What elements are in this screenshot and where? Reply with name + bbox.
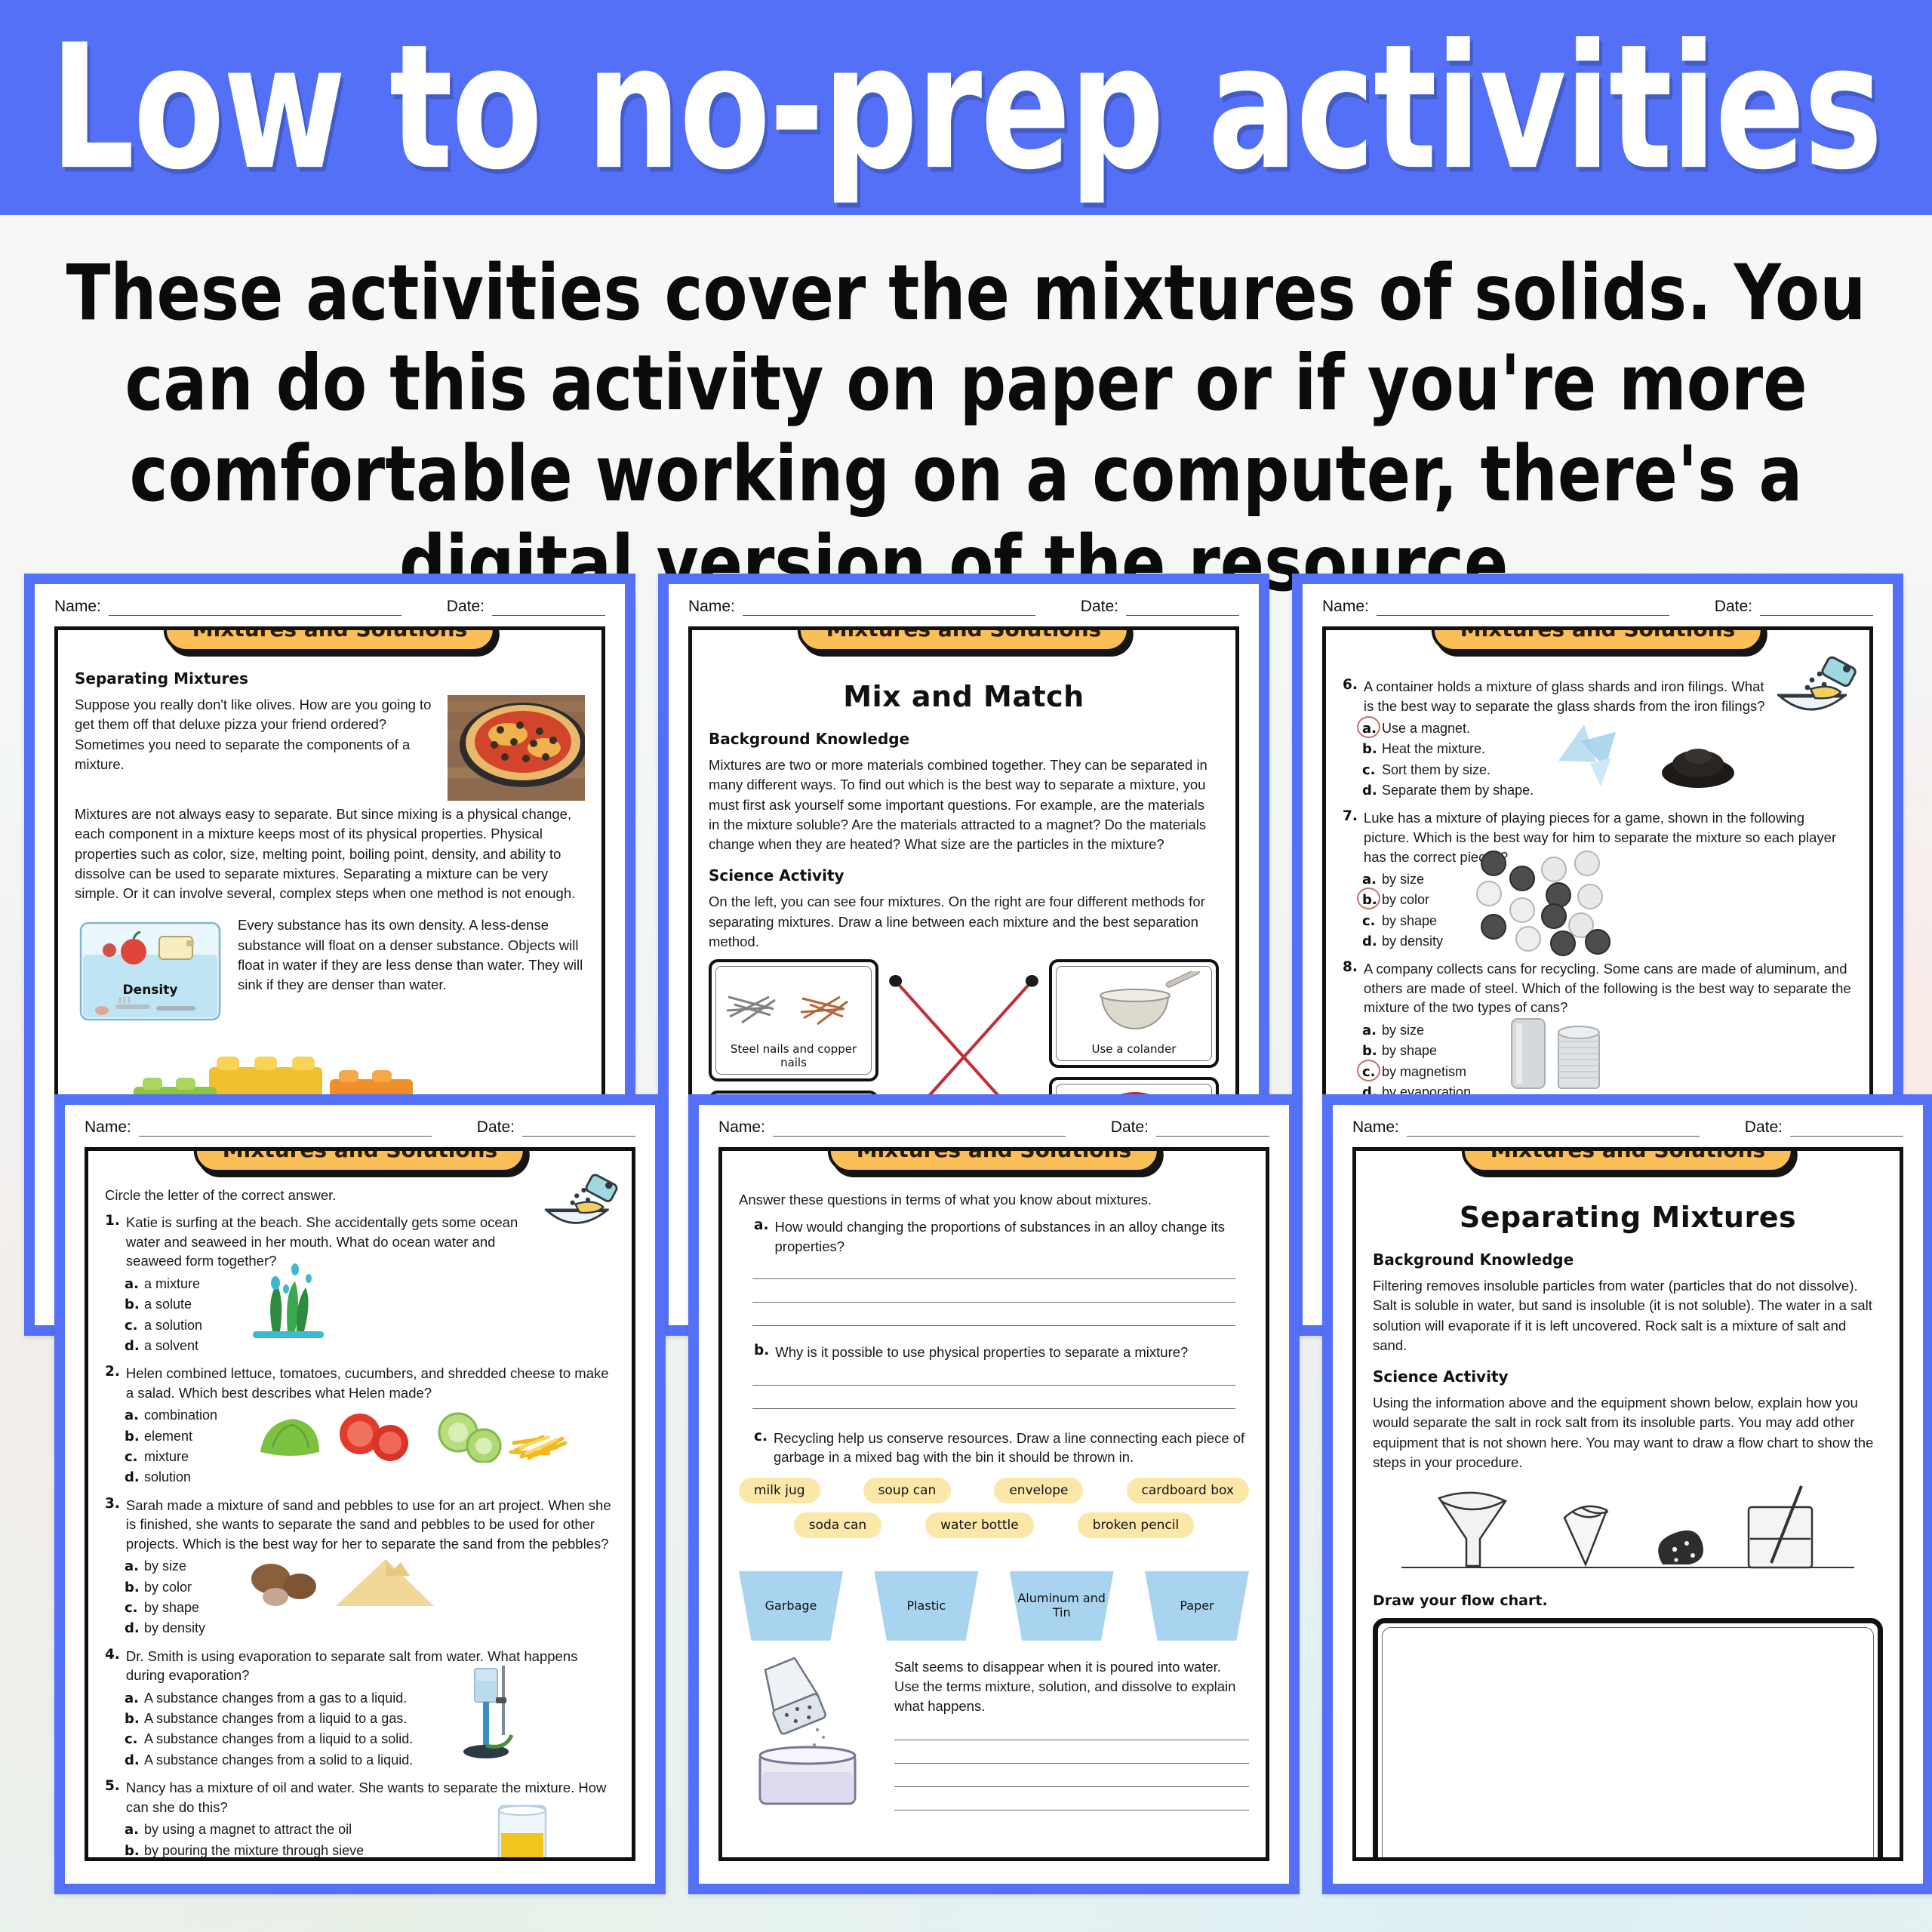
date-label: Date: xyxy=(447,598,485,616)
worksheet-title-pill: Mixtures and Solutions xyxy=(828,1147,1160,1173)
science-activity-text: Using the information above and the equi… xyxy=(1373,1393,1883,1472)
oil-and-water-beaker-illustration xyxy=(487,1800,559,1861)
date-label: Date: xyxy=(477,1118,515,1137)
sand-pebbles-illustrations xyxy=(245,1553,457,1614)
name-label: Name: xyxy=(1322,598,1369,616)
background-knowledge-heading: Background Knowledge xyxy=(709,730,1219,748)
colander-photo xyxy=(1060,971,1211,1036)
seaweed-illustration xyxy=(239,1253,337,1347)
funnel-sketch xyxy=(1439,1493,1506,1566)
name-date-row: Name: Date: xyxy=(1322,598,1873,616)
glass-shards-illustration xyxy=(1551,714,1641,797)
option-list: a.by size b.by color c.by shape d.by den… xyxy=(1362,869,1853,952)
svg-text:Density: Density xyxy=(123,983,178,998)
name-label: Name: xyxy=(688,598,735,616)
recycling-bin-row: Garbage Plastic Aluminum and Tin Paper xyxy=(739,1571,1249,1641)
paragraph-2: Mixtures are not always easy to separate… xyxy=(75,804,585,903)
recycling-bin[interactable]: Aluminum and Tin xyxy=(1010,1571,1114,1641)
flow-chart-label: Draw your flow chart. xyxy=(1373,1592,1883,1609)
flow-chart-drawing-area[interactable] xyxy=(1373,1618,1883,1861)
name-input-line[interactable] xyxy=(109,615,401,616)
background-knowledge-heading: Background Knowledge xyxy=(1373,1251,1883,1269)
option-list: a.by using a magnet to attract the oil b… xyxy=(125,1820,615,1861)
worksheet-title-pill: Mixtures and Solutions xyxy=(1432,626,1764,652)
salt-prompt-text: Salt seems to disappear when it is poure… xyxy=(894,1657,1249,1717)
garbage-tag-row-1: milk jug soup can envelope cardboard box xyxy=(739,1478,1249,1503)
name-input-line[interactable] xyxy=(743,615,1035,616)
date-input-line[interactable] xyxy=(1126,615,1239,616)
date-input-line[interactable] xyxy=(492,615,605,616)
worksheet-frame: Mixtures and Solutions Circle the letter… xyxy=(85,1147,635,1861)
worksheet-title-pill: Mixtures and Solutions xyxy=(798,626,1130,652)
recycling-bin[interactable]: Garbage xyxy=(739,1571,843,1641)
worksheet-card-separating-mixtures-activity[interactable]: Name: Date: Mixtures and Solutions Separ… xyxy=(1322,1094,1932,1894)
shredded-cheese-illustration xyxy=(511,1437,565,1458)
answer-lines[interactable] xyxy=(739,1278,1249,1326)
equipment-illustrations xyxy=(1373,1480,1883,1582)
aluminum-can-photo xyxy=(1506,1016,1626,1103)
name-input-line[interactable] xyxy=(1407,1136,1700,1137)
garbage-tag[interactable]: water bottle xyxy=(925,1512,1034,1538)
density-tank-illustration: Density xyxy=(75,915,226,1032)
worksheet-card-questions-1-5[interactable]: Name: Date: Mixtures and Solutions Circl… xyxy=(54,1094,666,1894)
question-item: 8. A company collects cans for recycling… xyxy=(1343,959,1853,1017)
option-row[interactable]: d.solution xyxy=(125,1467,615,1487)
worksheet-subtitle: Separating Mixtures xyxy=(1373,1201,1883,1234)
beaker-with-stirrer-sketch xyxy=(1749,1486,1812,1567)
garbage-tag[interactable]: milk jug xyxy=(739,1478,820,1503)
pebbles-illustration xyxy=(251,1564,316,1606)
garbage-tag[interactable]: broken pencil xyxy=(1078,1512,1195,1538)
game-tokens-illustration xyxy=(1475,847,1626,964)
date-label: Date: xyxy=(1081,598,1118,616)
question-item: 2. Helen combined lettuce, tomatoes, cuc… xyxy=(105,1364,615,1402)
background-knowledge-text: Mixtures are two or more materials combi… xyxy=(709,755,1219,854)
science-activity-heading: Science Activity xyxy=(1373,1367,1883,1386)
rock-salt-sketch xyxy=(1658,1531,1703,1564)
worksheet-frame: Mixtures and Solutions Separating Mixtur… xyxy=(1352,1147,1903,1861)
date-label: Date: xyxy=(1111,1118,1149,1137)
name-date-row: Name: Date: xyxy=(718,1118,1269,1137)
date-input-line[interactable] xyxy=(522,1136,635,1137)
name-date-row: Name: Date: xyxy=(688,598,1239,616)
garbage-tag[interactable]: soup can xyxy=(863,1478,952,1503)
worksheet-frame: Mixtures and Solutions Answer these ques… xyxy=(718,1147,1269,1861)
paragraph-3: Every substance has its own density. A l… xyxy=(238,915,585,995)
name-date-row: Name: Date: xyxy=(1352,1118,1903,1137)
worksheet-title-pill: Mixtures and Solutions xyxy=(164,626,496,652)
salt-shaker-bowl-illustration xyxy=(534,1171,624,1251)
recycling-bin[interactable]: Plastic xyxy=(874,1571,978,1641)
filter-paper-sketch xyxy=(1564,1506,1608,1564)
option-row[interactable]: d.by density xyxy=(125,1618,615,1638)
bunsen-burner-apparatus-illustration xyxy=(449,1663,547,1787)
option-list: a.combination b.element c.mixture d.solu… xyxy=(125,1405,615,1487)
recycling-bin[interactable]: Paper xyxy=(1145,1571,1249,1641)
salad-ingredients-illustrations xyxy=(253,1408,592,1466)
science-activity-text: On the left, you can see four mixtures. … xyxy=(709,892,1219,952)
option-row[interactable]: d.a solvent xyxy=(125,1336,615,1356)
page-subtitle: These activities cover the mixtures of s… xyxy=(60,249,1872,611)
match-card-colander[interactable]: Use a colander xyxy=(1049,959,1219,1068)
lettuce-illustration xyxy=(260,1419,319,1456)
name-date-row: Name: Date: xyxy=(54,598,605,616)
match-card-label: Steel nails and copper nails xyxy=(719,1042,868,1069)
background-knowledge-text: Filtering removes insoluble particles fr… xyxy=(1373,1276,1883,1355)
garbage-tag[interactable]: soda can xyxy=(794,1512,881,1538)
option-list: a.Use a magnet. b.Heat the mixture. c.So… xyxy=(1362,718,1853,801)
answer-lines[interactable] xyxy=(739,1385,1249,1409)
option-row[interactable]: a.a mixture xyxy=(125,1274,615,1294)
section-heading: Separating Mixtures xyxy=(75,669,585,688)
worksheet-title-pill: Mixtures and Solutions xyxy=(1462,1147,1794,1173)
garbage-tag[interactable]: envelope xyxy=(994,1478,1083,1503)
name-label: Name: xyxy=(1352,1118,1399,1137)
sand-pile-illustration xyxy=(336,1559,434,1606)
option-list: a.by size b.by color c.by shape d.by den… xyxy=(125,1556,615,1638)
answer-lines[interactable] xyxy=(894,1740,1249,1810)
date-input-line[interactable] xyxy=(1790,1136,1903,1137)
header-banner: Low to no-prep activities xyxy=(0,0,1932,215)
name-label: Name: xyxy=(718,1118,765,1137)
worksheet-card-open-response[interactable]: Name: Date: Mixtures and Solutions Answe… xyxy=(688,1094,1300,1894)
question-item: 3. Sarah made a mixture of sand and pebb… xyxy=(105,1496,615,1554)
worksheet-subtitle: Mix and Match xyxy=(709,680,1219,713)
name-date-row: Name: Date: xyxy=(85,1118,635,1137)
date-input-line[interactable] xyxy=(1156,1136,1269,1137)
garbage-tag-row-2: soda can water bottle broken pencil xyxy=(739,1512,1249,1538)
name-label: Name: xyxy=(85,1118,131,1137)
date-input-line[interactable] xyxy=(1760,615,1873,616)
worksheet-title-pill: Mixtures and Solutions xyxy=(194,1147,526,1173)
tomato-slices-illustration xyxy=(340,1414,408,1461)
paragraph-1: Suppose you really don't like olives. Ho… xyxy=(75,695,435,774)
pizza-photo xyxy=(448,695,585,804)
date-label: Date: xyxy=(1745,1118,1783,1137)
steel-and-copper-nails-photo xyxy=(719,971,870,1036)
instruction-text: Answer these questions in terms of what … xyxy=(739,1190,1249,1210)
page-title: Low to no-prep activities xyxy=(51,22,1882,194)
garbage-tag[interactable]: cardboard box xyxy=(1127,1478,1249,1503)
option-row[interactable]: b.a solute xyxy=(125,1294,615,1315)
question-item: c. Recycling help us conserve resources.… xyxy=(754,1429,1249,1467)
science-activity-heading: Science Activity xyxy=(709,866,1219,884)
iron-filings-photo xyxy=(1657,726,1740,794)
match-card-label: Use a colander xyxy=(1060,1042,1208,1056)
date-label: Date: xyxy=(1715,598,1752,616)
name-input-line[interactable] xyxy=(1377,615,1669,616)
name-input-line[interactable] xyxy=(139,1136,432,1137)
option-list: a.A substance changes from a gas to a li… xyxy=(125,1688,615,1770)
option-list: a.a mixture b.a solute c.a solution d.a … xyxy=(125,1274,615,1356)
option-row[interactable]: c.a solution xyxy=(125,1315,615,1336)
question-item: a. How would changing the proportions of… xyxy=(754,1217,1249,1256)
question-item: b. Why is it possible to use physical pr… xyxy=(754,1343,1249,1362)
match-card-nails[interactable]: Steel nails and copper nails xyxy=(709,959,878,1081)
name-input-line[interactable] xyxy=(773,1136,1066,1137)
cucumber-slices-illustration xyxy=(439,1414,500,1463)
option-list: a.by size b.by shape c.by magnetism d.by… xyxy=(1362,1020,1853,1103)
name-label: Name: xyxy=(54,598,101,616)
salt-shaker-and-glass-illustration xyxy=(739,1657,882,1812)
